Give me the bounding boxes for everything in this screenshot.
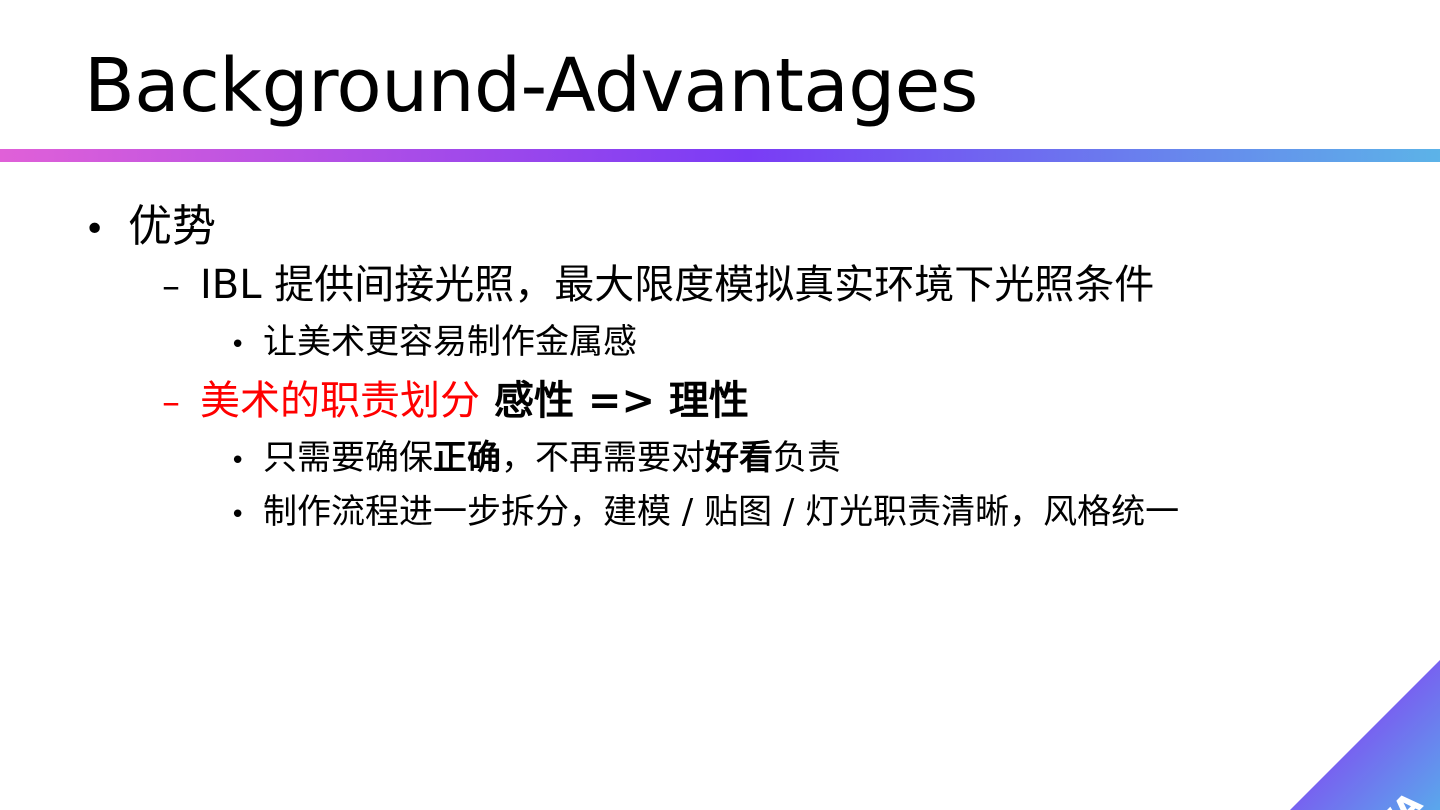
bullet-level3-correct: • 只需要确保正确，不再需要对好看负责 [0, 430, 1440, 484]
correct-segment-e: 负责 [773, 438, 841, 478]
bullet-marker-small-disc-icon: • [230, 332, 263, 358]
corner-logo-badge: UWA MAKE IT SIMPLE [1290, 660, 1440, 810]
slide: Background-Advantages • 优势 – IBL 提供间接光照，… [0, 0, 1440, 810]
bullet-level2-ibl: – IBL 提供间接光照，最大限度模拟真实环境下光照条件 [0, 252, 1440, 314]
bullet-text-ibl: IBL 提供间接光照，最大限度模拟真实环境下光照条件 [200, 252, 1154, 310]
bullet-text-metal: 让美术更容易制作金属感 [263, 314, 637, 363]
bullet-level3-metal: • 让美术更容易制作金属感 [0, 314, 1440, 368]
bullet-text-advantages: 优势 [128, 190, 216, 254]
bullet-marker-small-disc-icon: • [230, 448, 263, 474]
correct-segment-bold-haokan: 好看 [705, 438, 773, 478]
duty-red-segment: 美术的职责划分 [200, 378, 480, 424]
correct-segment-bold-zhengque: 正确 [433, 438, 501, 478]
bullet-marker-dash-red-icon: – [162, 385, 200, 421]
correct-segment-c: ，不再需要对 [501, 438, 705, 478]
bullet-level3-pipeline: • 制作流程进一步拆分，建模 / 贴图 / 灯光职责清晰，风格统一 [0, 484, 1440, 538]
duty-bold-segment: 感性 => 理性 [494, 378, 749, 424]
bullet-list: • 优势 – IBL 提供间接光照，最大限度模拟真实环境下光照条件 • 让美术更… [0, 190, 1440, 538]
bullet-text-pipeline: 制作流程进一步拆分，建模 / 贴图 / 灯光职责清晰，风格统一 [263, 484, 1179, 533]
uwa-wordmark: UWA [1346, 787, 1428, 810]
bullet-marker-dash-icon: – [162, 269, 200, 305]
bullet-marker-small-disc-icon: • [230, 502, 263, 528]
bullet-marker-disc-icon: • [84, 212, 128, 248]
title-divider-bar [0, 149, 1440, 162]
correct-segment-a: 只需要确保 [263, 438, 433, 478]
bullet-level1-advantages: • 优势 [0, 190, 1440, 252]
bullet-text-correct: 只需要确保正确，不再需要对好看负责 [263, 430, 841, 479]
page-title: Background-Advantages [84, 49, 978, 123]
bullet-level2-duty: – 美术的职责划分感性 => 理性 [0, 368, 1440, 430]
bullet-text-duty: 美术的职责划分感性 => 理性 [200, 368, 749, 426]
